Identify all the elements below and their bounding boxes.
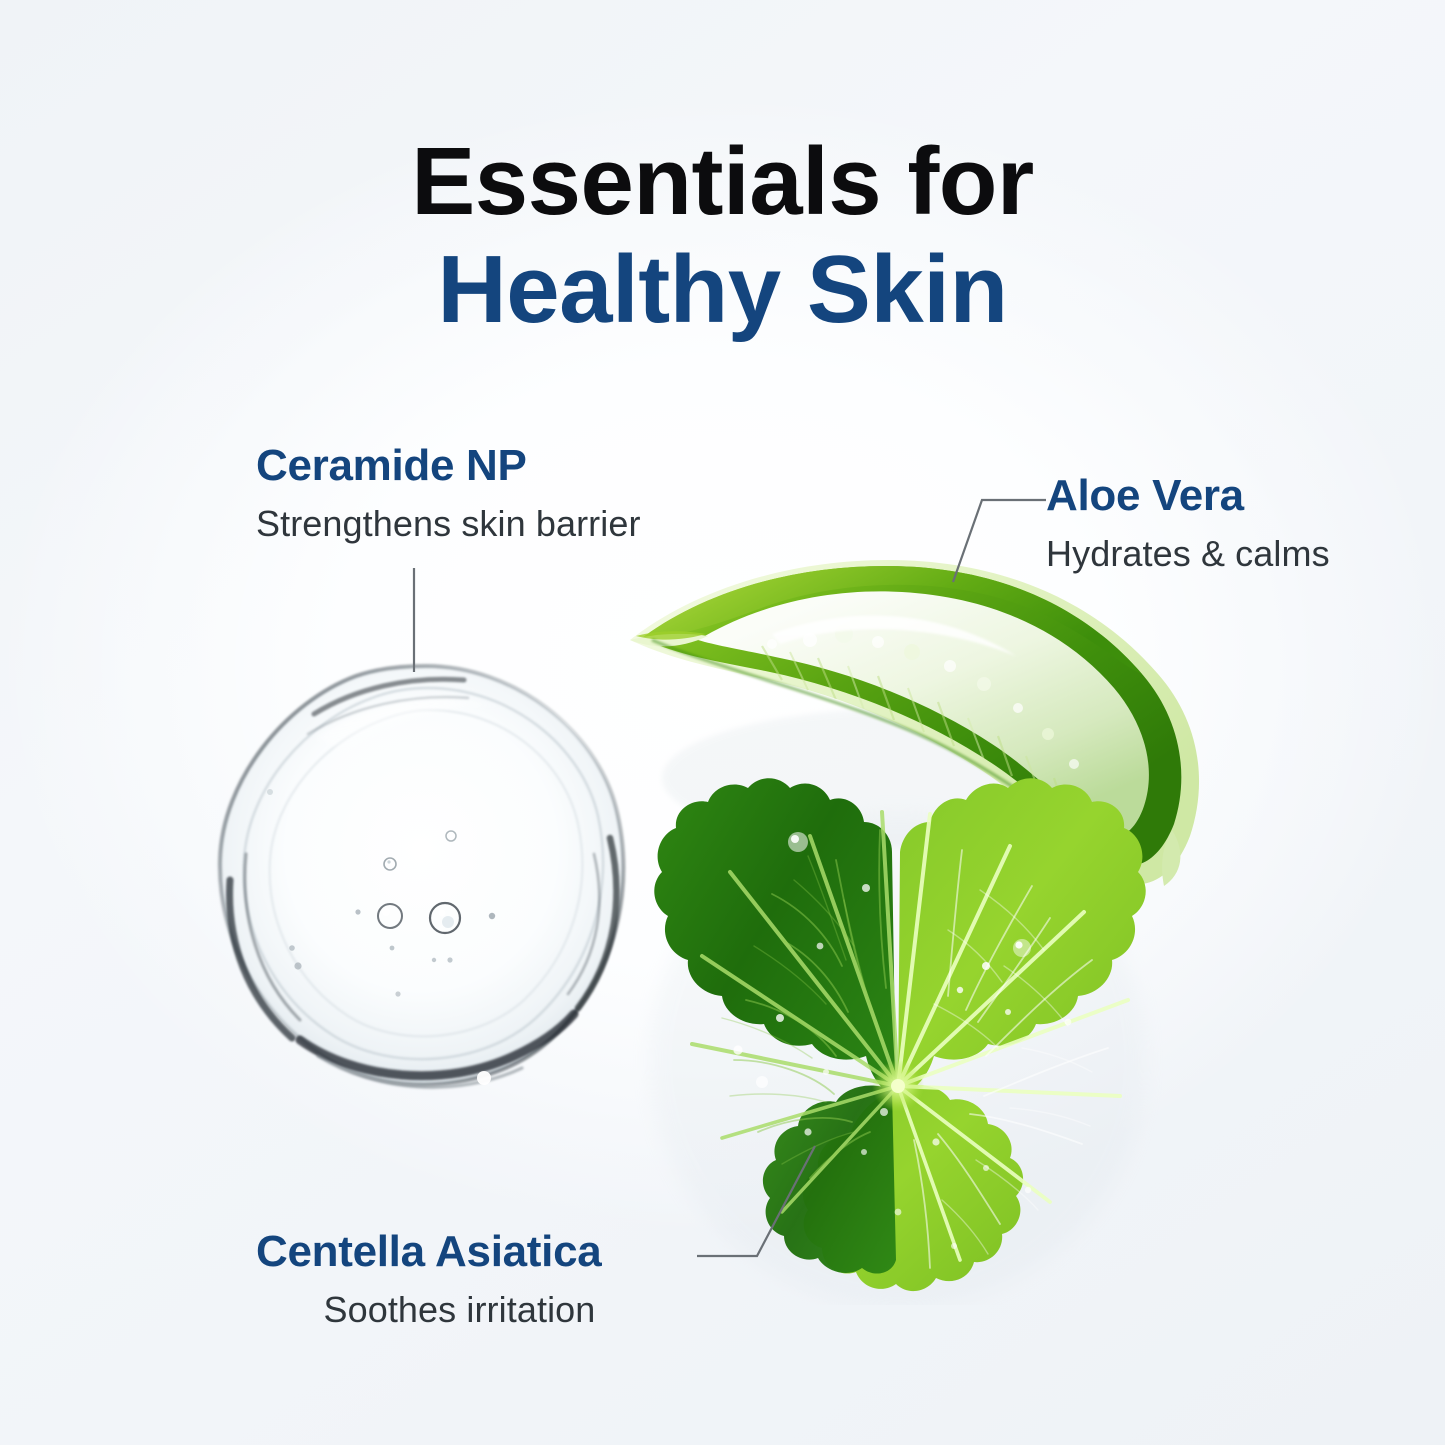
callout-aloe: Aloe Vera Hydrates & calms [1046,472,1330,575]
infographic-canvas: Essentials for Healthy Skin [0,0,1445,1445]
callout-ceramide-subtitle: Strengthens skin barrier [256,502,641,545]
callout-aloe-title: Aloe Vera [1046,472,1330,520]
leaf-center-node [891,1079,905,1093]
title-line-1: Essentials for [0,128,1445,236]
callout-ceramide-title: Ceramide NP [256,442,641,490]
page-title: Essentials for Healthy Skin [0,128,1445,343]
callout-aloe-subtitle: Hydrates & calms [1046,532,1330,575]
callout-centella: Centella Asiatica Soothes irritation [256,1228,601,1331]
water-gel-droplet-icon [196,648,656,1108]
callout-ceramide: Ceramide NP Strengthens skin barrier [256,442,641,545]
title-line-2: Healthy Skin [0,236,1445,344]
callout-centella-title: Centella Asiatica [256,1228,601,1276]
centella-leaf-icon [630,760,1170,1305]
callout-centella-subtitle: Soothes irritation [256,1288,601,1331]
